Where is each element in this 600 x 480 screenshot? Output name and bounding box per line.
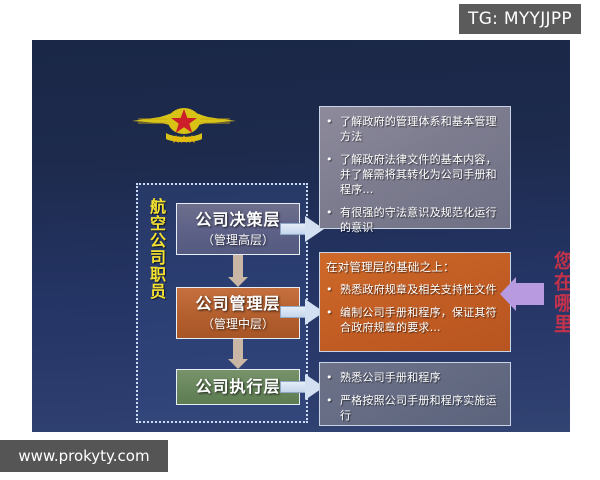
connector-stem [233, 255, 243, 277]
screenshot-root: TG: MYYJJPP [0, 0, 600, 480]
bullet-item: •熟悉政府规章及相关支持性文件 [326, 282, 504, 297]
bullet-item: •了解政府法律文件的基本内容，并了解需将其转化为公司手册和程序… [326, 152, 504, 197]
bullet-dot: • [326, 205, 340, 220]
bullet-dot: • [326, 114, 340, 129]
connector-down-arrow-management-to-execution [228, 339, 248, 369]
bullet-text: 编制公司手册和程序，保证其符合政府规章的要求… [340, 306, 497, 334]
right-arrow-icon-execution [280, 374, 324, 400]
bullet-item: •有很强的守法意识及规范化运行的意识 [326, 205, 504, 235]
group-label: 航空公司职员 [140, 198, 166, 410]
presentation-slide: 航空公司职员 公司决策层 （管理高层） 公司管理层 （管理中层） 公司执行层 [32, 40, 570, 432]
bullet-item: •严格按照公司手册和程序实施运行 [326, 393, 504, 423]
arrow-bar [280, 381, 306, 393]
bullet-text: 了解政府的管理体系和基本管理方法 [340, 115, 497, 143]
bullet-dot: • [326, 305, 340, 320]
bullet-text: 有很强的守法意识及规范化运行的意识 [340, 206, 497, 234]
connector-stem [233, 339, 243, 359]
bullet-text: 严格按照公司手册和程序实施运行 [340, 394, 497, 422]
arrow-bar [280, 306, 306, 318]
bullet-dot: • [326, 282, 340, 297]
connector-head [228, 277, 248, 287]
connector-head [228, 359, 248, 369]
right-arrow-icon-decision [280, 216, 324, 242]
bullet-item: •了解政府的管理体系和基本管理方法 [326, 114, 504, 144]
right-arrow-icon-management [280, 299, 324, 325]
bullet-item: •编制公司手册和程序，保证其符合政府规章的要求… [326, 305, 504, 335]
callout-you-are-here: 您在哪里 [549, 251, 570, 361]
content-box-decision-requirements[interactable]: •了解政府的管理体系和基本管理方法 •了解政府法律文件的基本内容，并了解需将其转… [319, 106, 511, 229]
tag-badge: TG: MYYJJPP [459, 4, 581, 34]
bullet-text: 熟悉公司手册和程序 [340, 371, 441, 384]
bullet-dot: • [326, 393, 340, 408]
content-box-execution-requirements[interactable]: •熟悉公司手册和程序 •严格按照公司手册和程序实施运行 [319, 362, 511, 426]
connector-down-arrow-decision-to-management [228, 255, 248, 287]
bullet-text: 了解政府法律文件的基本内容，并了解需将其转化为公司手册和程序… [340, 153, 497, 196]
watermark-url: www.prokyty.com [0, 440, 168, 472]
bullet-dot: • [326, 152, 340, 167]
bullet-item: •熟悉公司手册和程序 [326, 370, 504, 385]
content-headline: 在对管理层的基础之上： [326, 260, 504, 275]
content-box-management-requirements[interactable]: 在对管理层的基础之上： •熟悉政府规章及相关支持性文件 •编制公司手册和程序，保… [319, 252, 511, 352]
arrow-bar [280, 223, 306, 235]
airline-wings-emblem [130, 97, 238, 149]
left-arrow-icon-callout [500, 277, 544, 311]
arrow-tip [500, 277, 516, 311]
bullet-dot: • [326, 370, 340, 385]
bullet-text: 熟悉政府规章及相关支持性文件 [340, 283, 497, 296]
arrow-bar [515, 283, 544, 305]
